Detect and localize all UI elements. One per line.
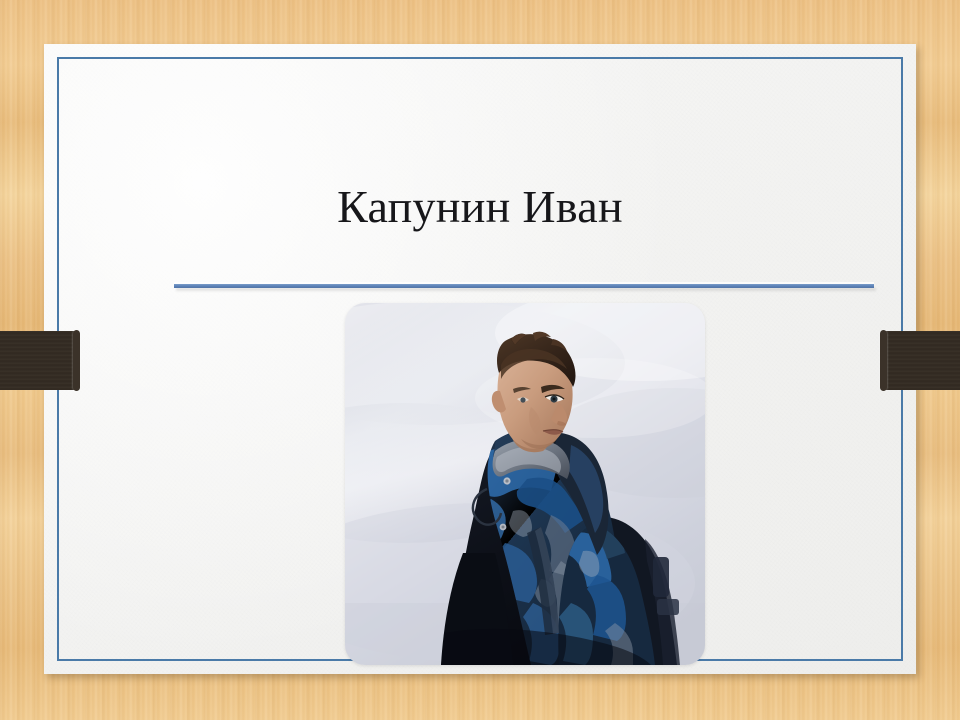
slide-card: Капунин Иван — [44, 44, 916, 674]
portrait-photo-graphic — [345, 303, 705, 665]
tape-clip-left-lip — [73, 330, 80, 391]
page-title: Капунин Иван — [44, 179, 916, 235]
tape-clip-right-icon — [883, 331, 960, 390]
portrait-photo — [345, 303, 705, 665]
tape-clip-left-icon — [0, 331, 77, 390]
tape-clip-right-lip — [880, 330, 887, 391]
slide-canvas: Капунин Иван — [0, 0, 960, 720]
title-divider — [174, 284, 874, 288]
